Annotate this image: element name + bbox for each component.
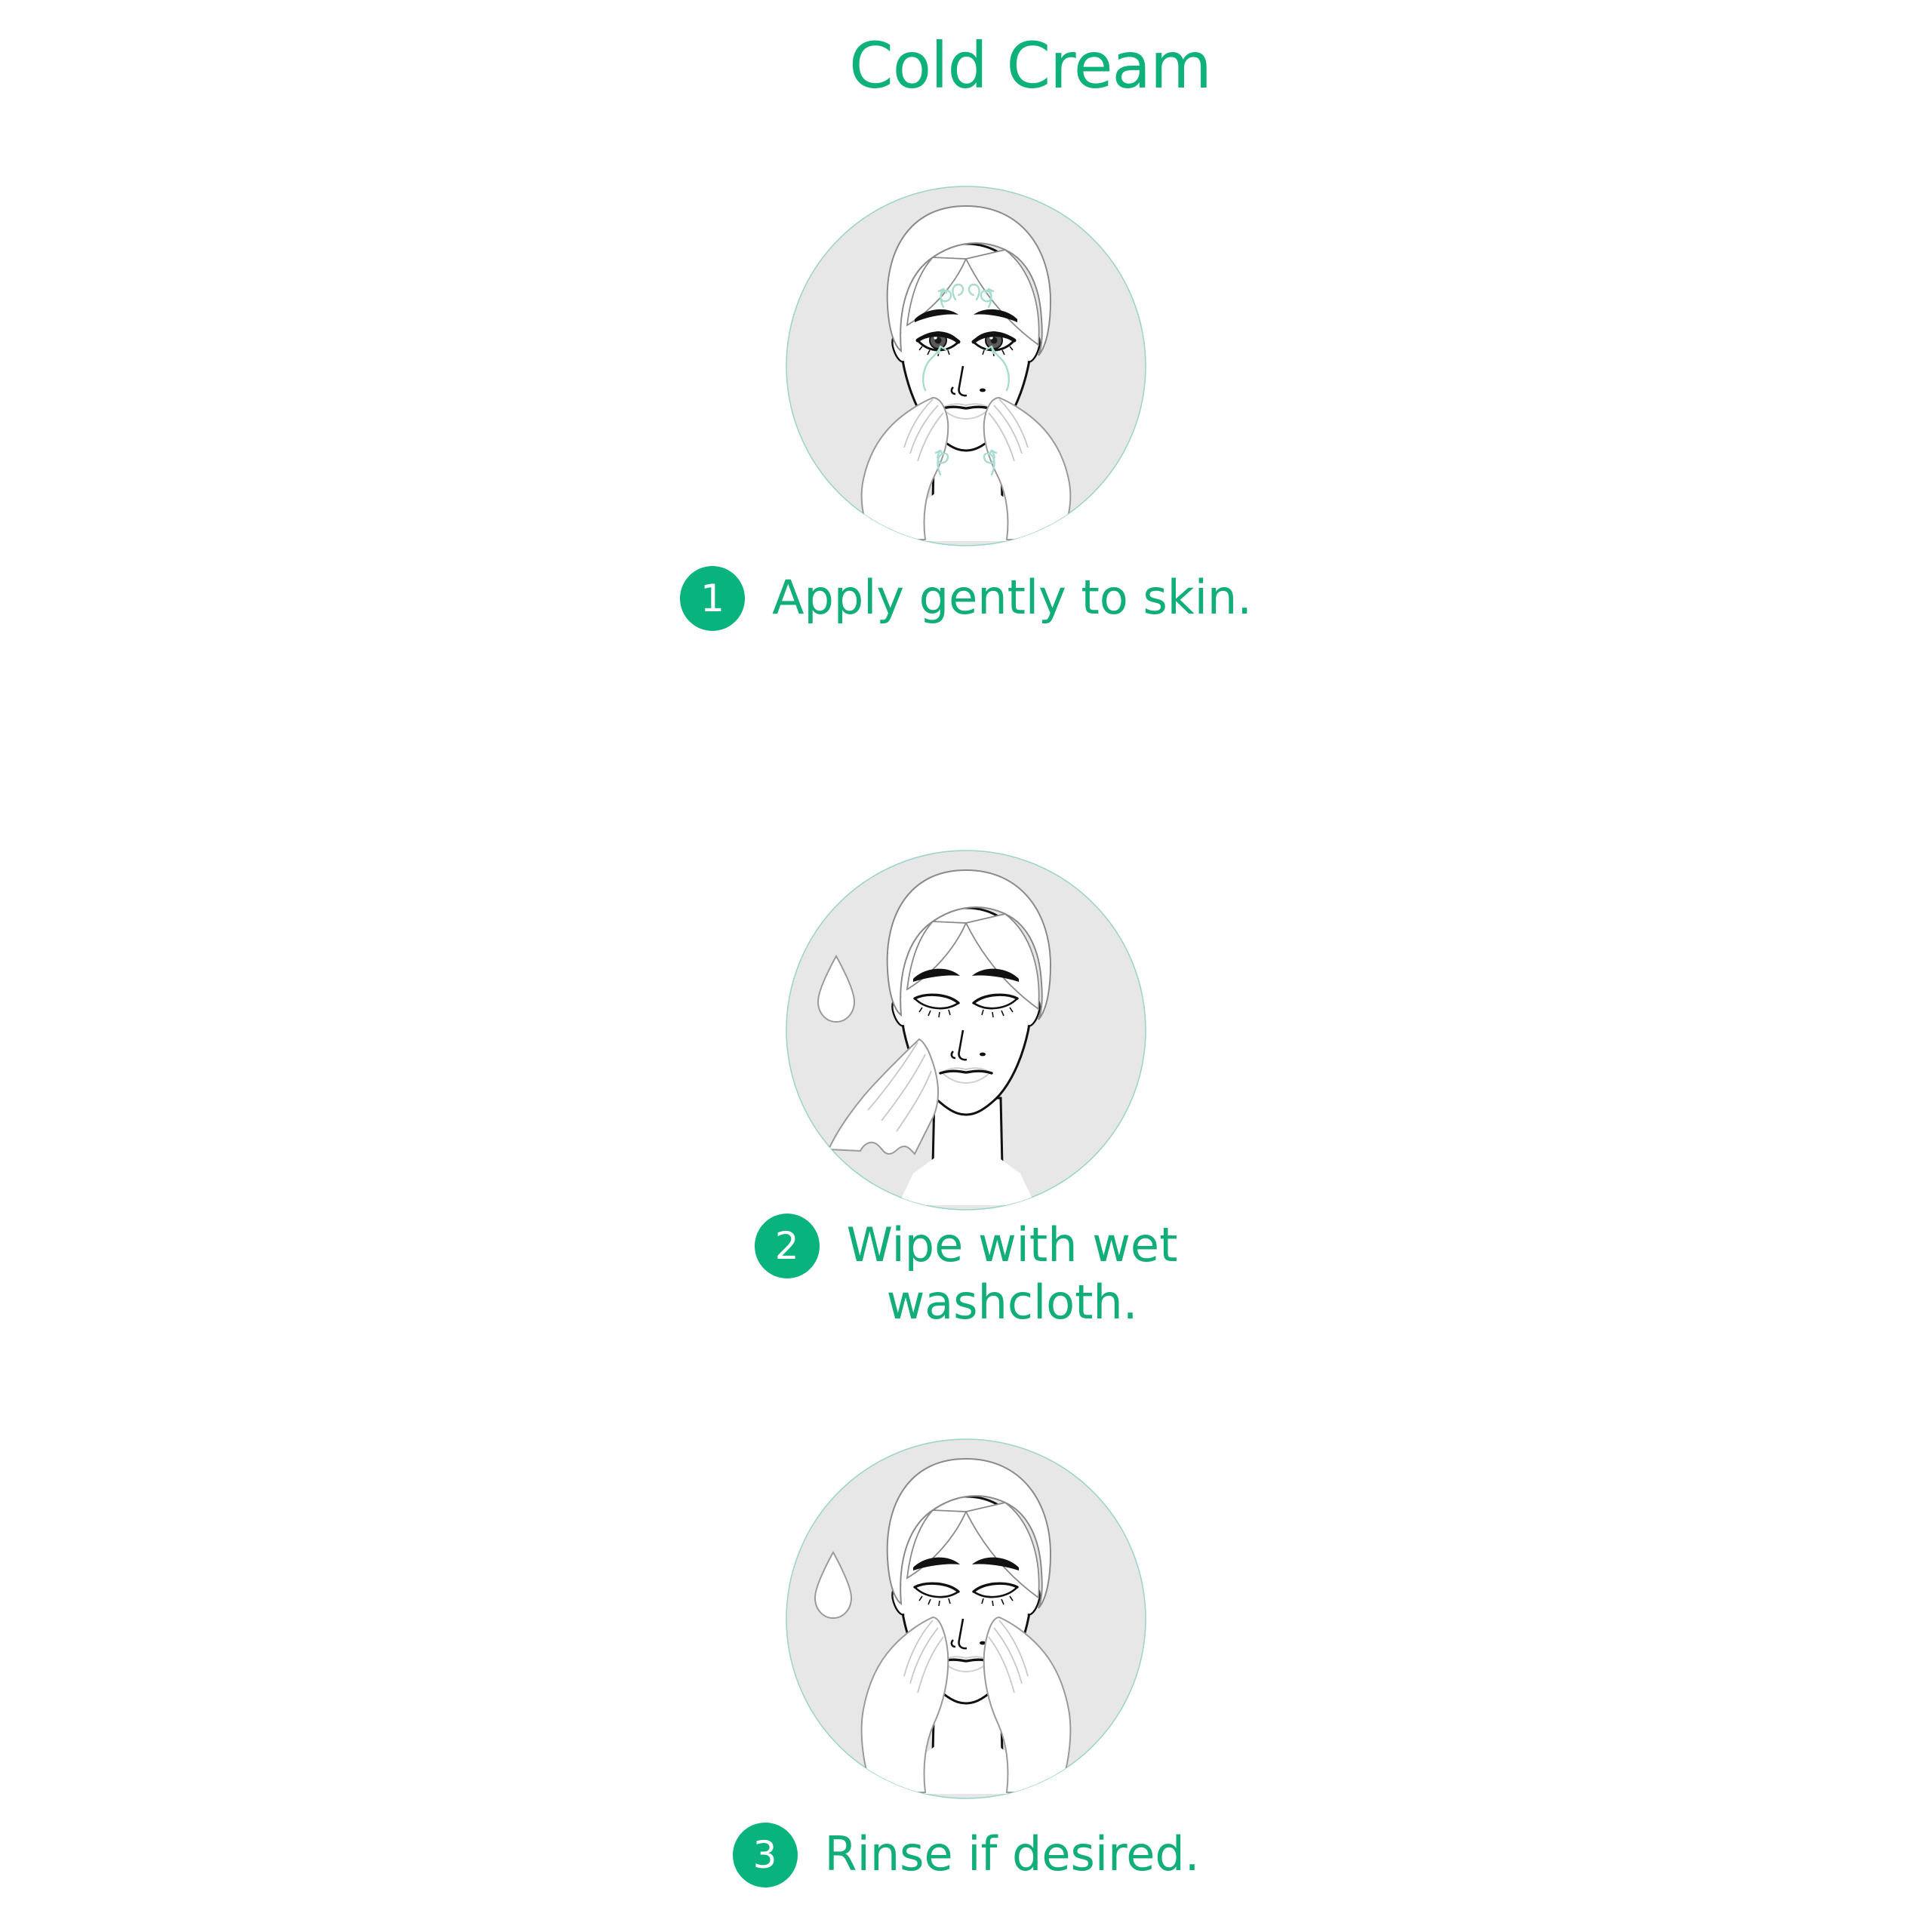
step-3-caption: 3 Rinse if desired.	[0, 1823, 1932, 1887]
step-1-caption: 1 Apply gently to skin.	[0, 566, 1932, 631]
step-3-illustration-container	[0, 1438, 1932, 1800]
step-2-badge: 2	[755, 1214, 820, 1278]
woman-wiping-washcloth-illustration	[785, 849, 1147, 1211]
step-3-text: Rinse if desired.	[825, 1823, 1200, 1883]
step-3-badge: 3	[733, 1823, 798, 1887]
woman-applying-cream-illustration	[785, 185, 1147, 547]
step-2-caption: 2 Wipe with wet washcloth.	[0, 1214, 1932, 1331]
page-title: Cold Cream	[0, 29, 1932, 103]
step-1-badge: 1	[680, 566, 745, 631]
step-1-illustration-container	[0, 185, 1932, 547]
page-title-text: Cold Cream	[849, 29, 1211, 103]
step-2-text: Wipe with wet washcloth.	[847, 1214, 1178, 1331]
step-1-text: Apply gently to skin.	[772, 566, 1252, 626]
woman-rinsing-illustration	[785, 1438, 1147, 1800]
step-2-illustration-container	[0, 849, 1932, 1211]
